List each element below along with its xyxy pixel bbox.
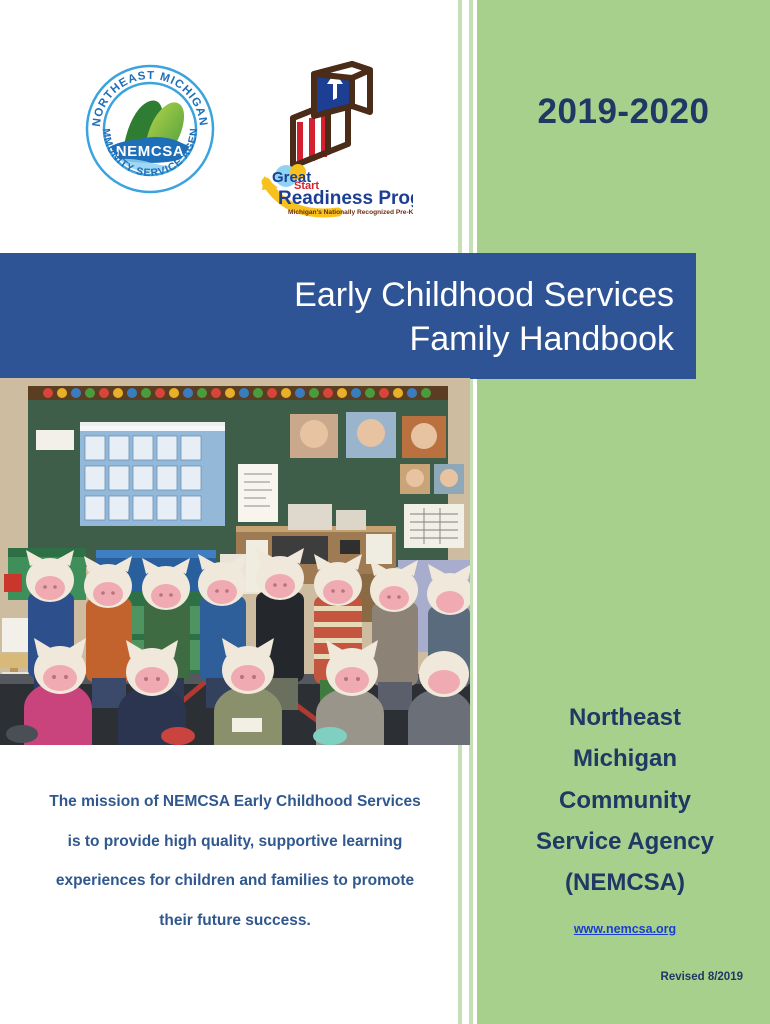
- gsrp-tagline: Michigan's Nationally Recognized Pre-K P…: [288, 209, 413, 216]
- title-line-1: Early Childhood Services: [294, 274, 674, 318]
- cover-page: 2019-2020: [0, 0, 770, 1024]
- mission-line-3: experiences for children and families to…: [14, 861, 456, 901]
- agency-name-line-4: Service Agency: [497, 821, 753, 862]
- gsrp-main-text: Readiness Program: [278, 188, 413, 209]
- school-year-text: 2019-2020: [477, 92, 770, 132]
- nemcsa-logo-center-text: NEMCSA: [116, 143, 185, 160]
- nemcsa-seal-logo: NEMCSA NORTHEAST MICHIGAN COMMUNITY SERV…: [84, 63, 216, 195]
- title-banner: Early Childhood Services Family Handbook: [0, 253, 696, 379]
- classroom-photo: [0, 378, 470, 745]
- agency-name-line-2: Michigan: [497, 738, 753, 779]
- mission-line-2: is to provide high quality, supportive l…: [14, 822, 456, 862]
- agency-name-line-3: Community: [497, 780, 753, 821]
- mission-statement: The mission of NEMCSA Early Childhood Se…: [14, 782, 456, 940]
- agency-name-line-5: (NEMCSA): [497, 862, 753, 903]
- revision-date: Revised 8/2019: [497, 971, 743, 983]
- website-link[interactable]: www.nemcsa.org: [497, 922, 753, 936]
- agency-name: Northeast Michigan Community Service Age…: [497, 697, 753, 903]
- mission-line-1: The mission of NEMCSA Early Childhood Se…: [14, 782, 456, 822]
- title-line-2: Family Handbook: [409, 318, 674, 362]
- mission-line-4: their future success.: [14, 901, 456, 941]
- agency-name-line-1: Northeast: [497, 697, 753, 738]
- great-start-readiness-program-logo: Great Start Readiness Program Michigan's…: [248, 56, 413, 221]
